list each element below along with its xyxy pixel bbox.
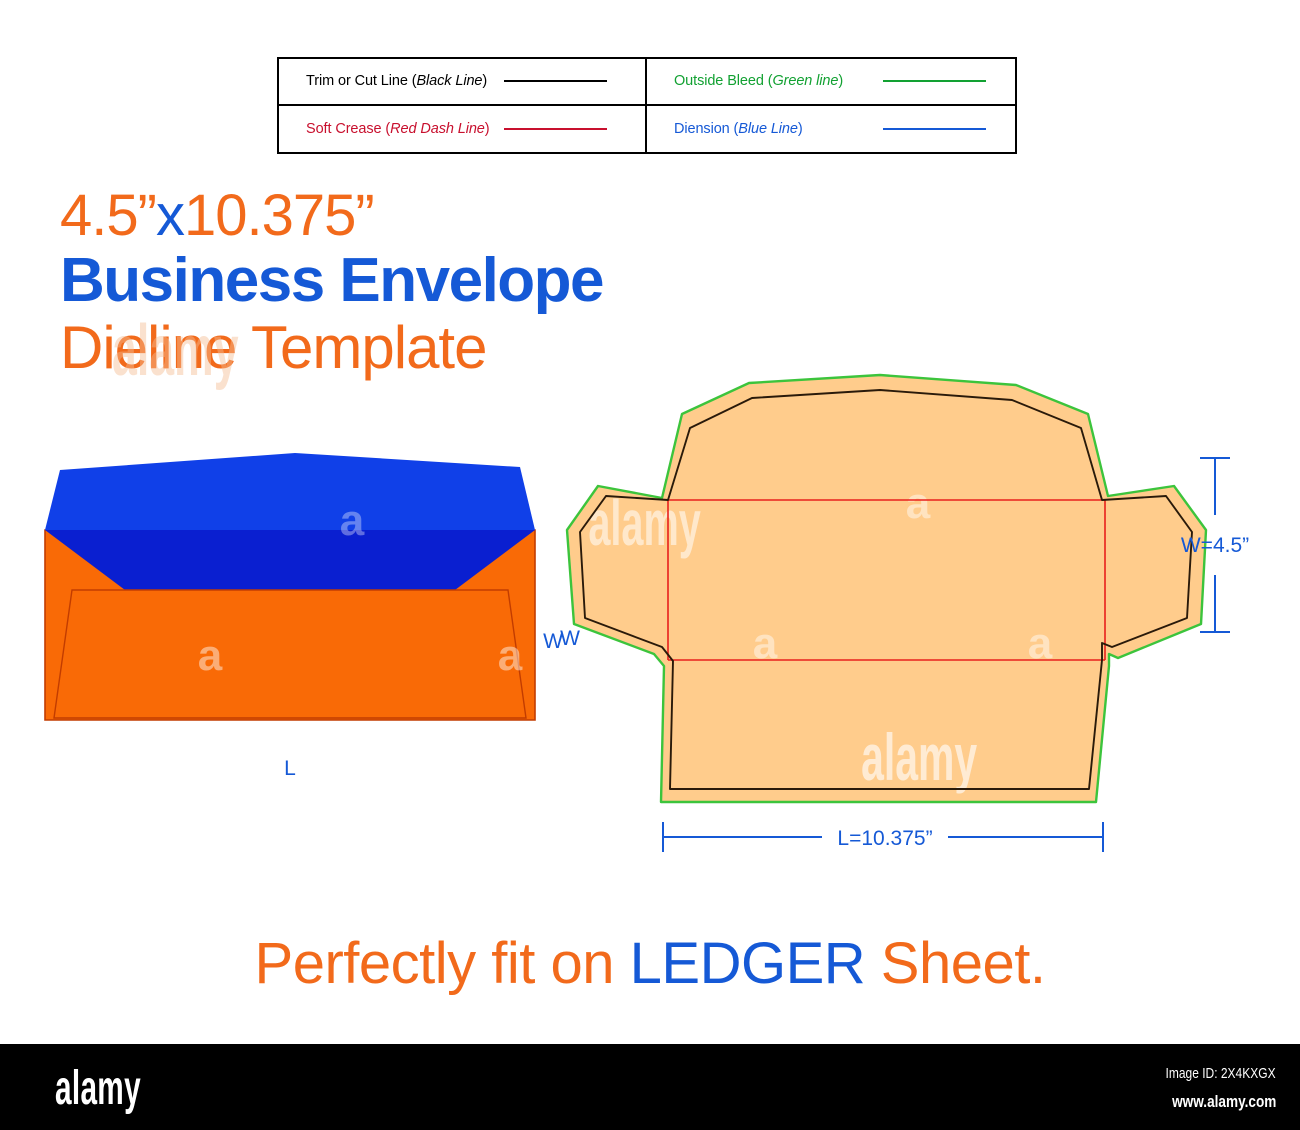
envelope-length-label: L [284, 757, 296, 780]
legend-cell-trim-or-cut-line: Trim or Cut Line (Black Line) [279, 59, 647, 106]
dieline-length-label: L=10.375” [837, 827, 932, 850]
tagline-part2: Sheet. [865, 931, 1045, 996]
legend-swatch-blue-line [883, 128, 986, 130]
legend-swatch-green-line [883, 80, 986, 82]
envelope-flap-shadow [45, 530, 535, 590]
legend-label-dimension: Diension (Blue Line) [674, 121, 803, 137]
dieline-w-side-label: W [543, 630, 563, 653]
title-product-name: Business Envelope [60, 250, 700, 312]
legend-label-trim-or-cut-line: Trim or Cut Line (Black Line) [306, 73, 487, 89]
alamy-url-text: www.alamy.com [1172, 1092, 1276, 1112]
legend-cell-outside-bleed: Outside Bleed (Green line) [647, 59, 1015, 106]
alamy-footer-bar: alamy Image ID: 2X4KXGX www.alamy.com [0, 1044, 1300, 1130]
dieline-paper-fill [573, 382, 1200, 795]
legend-cell-soft-crease: Soft Crease (Red Dash Line) [279, 106, 647, 153]
legend-cell-dimension: Diension (Blue Line) [647, 106, 1015, 153]
envelope-3d-illustration: a a a L W [20, 430, 600, 800]
dieline-drawing: alamy a a a alamy W=4.5” L=10.375” W [540, 370, 1280, 880]
legend-swatch-black-line [504, 80, 607, 82]
alamy-logo: alamy [55, 1061, 141, 1116]
dieline-width-label: W=4.5” [1181, 534, 1249, 557]
legend-swatch-red-dash-line [504, 128, 607, 130]
image-id-text: Image ID: 2X4KXGX [1166, 1065, 1276, 1082]
envelope-flap [45, 453, 535, 530]
tagline: Perfectly fit on LEDGER Sheet. [0, 930, 1300, 997]
legend-label-soft-crease: Soft Crease (Red Dash Line) [306, 121, 489, 137]
legend-table: Trim or Cut Line (Black Line) Outside Bl… [277, 57, 1017, 154]
title-block: 4.5”x10.375” Business Envelope Dieline T… [60, 186, 700, 378]
title-size-line: 4.5”x10.375” [60, 186, 700, 246]
tagline-part1: Perfectly fit on [255, 931, 630, 996]
tagline-highlight: LEDGER [630, 931, 866, 996]
legend-label-outside-bleed: Outside Bleed (Green line) [674, 73, 843, 89]
